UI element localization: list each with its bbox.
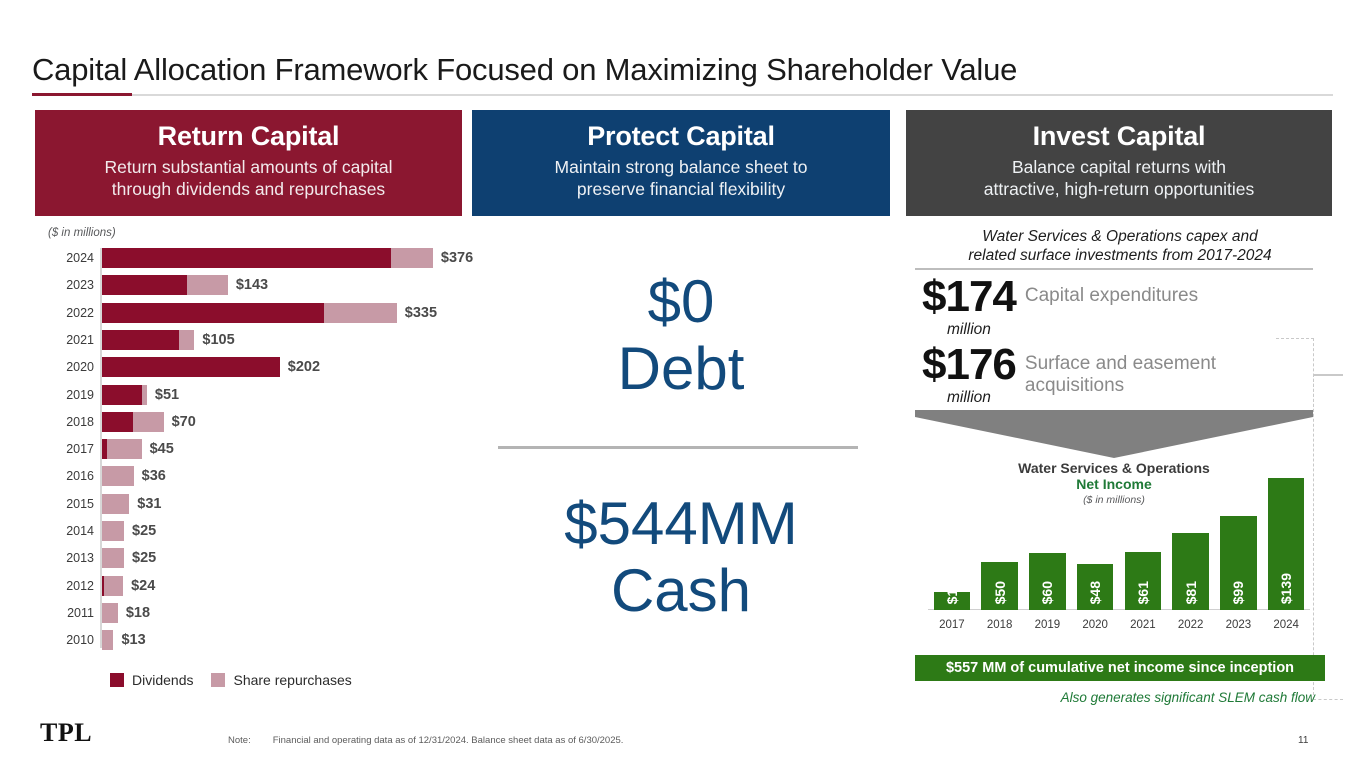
- return-capital-bar-chart: 2024$3762023$1432022$3352021$1052020$202…: [46, 248, 466, 654]
- footnote-label: Note:: [228, 735, 251, 746]
- footnote-note: Note: Financial and operating data as of…: [228, 735, 623, 746]
- return-capital-units-note: ($ in millions): [48, 227, 116, 239]
- bar-segment-share-repurchases: [102, 548, 124, 568]
- stat-surface-label-line2: acquisitions: [1025, 375, 1124, 396]
- bar-segment-dividends: [102, 385, 142, 405]
- net-income-bar: $81: [1172, 533, 1208, 610]
- bar-row-track: [102, 248, 433, 268]
- bar-row-year: 2012: [46, 579, 94, 593]
- bar-segment-share-repurchases: [104, 576, 123, 596]
- net-income-bar-value: $48: [1087, 581, 1103, 604]
- bar-row-year: 2016: [46, 469, 94, 483]
- header-card-invest-capital[interactable]: Invest Capital Balance capital returns w…: [906, 110, 1332, 216]
- card-subtitle-invest-line2: attractive, high-return opportunities: [984, 179, 1254, 199]
- bar-row-track: [102, 439, 142, 459]
- stat-capex-number-block: $174 million: [922, 276, 1016, 339]
- net-income-x-label: 2018: [976, 619, 1024, 631]
- bar-row-value: $202: [288, 359, 320, 375]
- title-divider: [32, 94, 1333, 96]
- bar-row-value: $25: [132, 523, 156, 539]
- header-card-return-capital[interactable]: Return Capital Return substantial amount…: [35, 110, 462, 216]
- net-income-bar-fill: $99: [1220, 516, 1256, 610]
- net-income-bar-value: $60: [1039, 581, 1055, 604]
- net-income-bar: $61: [1125, 552, 1161, 610]
- bar-row-track: [102, 494, 129, 514]
- net-income-x-label: 2023: [1215, 619, 1263, 631]
- bar-row-value: $376: [441, 250, 473, 266]
- bar-row-value: $24: [131, 578, 155, 594]
- bar-segment-dividends: [102, 248, 391, 268]
- bar-row-value: $25: [132, 550, 156, 566]
- debt-amount: $0: [472, 268, 890, 335]
- bar-row-track: [102, 576, 123, 596]
- bar-segment-share-repurchases: [102, 466, 134, 486]
- bar-row-year: 2024: [46, 251, 94, 265]
- bar-segment-dividends: [102, 412, 133, 432]
- net-income-bar-fill: $48: [1077, 564, 1113, 610]
- bar-row-track: [102, 521, 124, 541]
- net-income-bar: $50: [981, 562, 1017, 610]
- net-income-bar-fill: $139: [1268, 478, 1304, 610]
- net-income-x-label: 2024: [1262, 619, 1310, 631]
- bar-row-year: 2014: [46, 524, 94, 538]
- bar-segment-share-repurchases: [187, 275, 227, 295]
- tpl-logo: TPL: [40, 718, 92, 748]
- bar-row-year: 2017: [46, 442, 94, 456]
- stat-surface-number: $176: [922, 344, 1016, 386]
- stat-surface-label-line1: Surface and easement: [1025, 353, 1216, 374]
- net-income-bar-fill: $50: [981, 562, 1017, 610]
- net-income-bar-fill: $60: [1029, 553, 1065, 610]
- title-accent-underline: [32, 93, 132, 96]
- legend-swatch-share-repurchases: [211, 673, 225, 687]
- bar-segment-dividends: [102, 330, 179, 350]
- footnote-text: Financial and operating data as of 12/31…: [273, 735, 624, 746]
- funnel-chevron-shape: [915, 410, 1313, 458]
- dashed-bracket-left: [1276, 338, 1314, 412]
- bar-row-track: [102, 630, 113, 650]
- bar-row: 2023$143: [46, 275, 466, 295]
- page-number: 11: [1298, 735, 1308, 746]
- protect-capital-divider: [498, 446, 858, 449]
- bar-row: 2012$24: [46, 576, 466, 596]
- bar-row: 2013$25: [46, 548, 466, 568]
- bar-segment-share-repurchases: [179, 330, 194, 350]
- header-card-protect-capital[interactable]: Protect Capital Maintain strong balance …: [472, 110, 890, 216]
- bar-row: 2015$31: [46, 494, 466, 514]
- bar-segment-share-repurchases: [133, 412, 164, 432]
- slide-root: Capital Allocation Framework Focused on …: [0, 0, 1365, 768]
- net-income-bar-fill: $81: [1172, 533, 1208, 610]
- net-income-bar-chart: $192017$502018$602019$482020$612021$8120…: [928, 470, 1310, 632]
- bar-segment-share-repurchases: [142, 385, 146, 405]
- net-income-x-label: 2021: [1119, 619, 1167, 631]
- bar-row-year: 2013: [46, 551, 94, 565]
- net-income-x-label: 2019: [1024, 619, 1072, 631]
- bar-segment-share-repurchases: [102, 603, 118, 623]
- net-income-bar-value: $61: [1135, 581, 1151, 604]
- bar-segment-dividends: [102, 303, 324, 323]
- bar-row-year: 2011: [46, 606, 94, 620]
- card-subtitle-invest: Balance capital returns with attractive,…: [906, 156, 1332, 201]
- stat-capex-unit: million: [922, 321, 1016, 339]
- stat-capex-label: Capital expenditures: [1016, 276, 1198, 307]
- protect-capital-cash-block: $544MM Cash: [472, 490, 890, 624]
- bar-row-year: 2015: [46, 497, 94, 511]
- bar-row-value: $18: [126, 605, 150, 621]
- bar-row-value: $70: [172, 414, 196, 430]
- card-subtitle-return-line2: through dividends and repurchases: [112, 179, 385, 199]
- bar-row: 2024$376: [46, 248, 466, 268]
- legend-item-share-repurchases: Share repurchases: [211, 672, 351, 688]
- net-income-bar-value: $139: [1278, 573, 1294, 604]
- stat-capital-expenditures: $174 million Capital expenditures: [922, 276, 1198, 339]
- net-income-x-label: 2022: [1167, 619, 1215, 631]
- page-title: Capital Allocation Framework Focused on …: [32, 52, 1332, 88]
- bar-row-track: [102, 330, 194, 350]
- bar-row-value: $36: [142, 468, 166, 484]
- bar-row-year: 2010: [46, 633, 94, 647]
- stat-capex-number: $174: [922, 276, 1016, 318]
- net-income-bar: $48: [1077, 564, 1113, 610]
- bar-row-track: [102, 466, 134, 486]
- bar-row: 2017$45: [46, 439, 466, 459]
- bar-row-year: 2023: [46, 278, 94, 292]
- bar-segment-dividends: [102, 357, 280, 377]
- card-subtitle-return-line1: Return substantial amounts of capital: [105, 157, 393, 177]
- card-heading-return: Return Capital: [35, 122, 462, 152]
- card-subtitle-protect-line1: Maintain strong balance sheet to: [555, 157, 808, 177]
- bar-row: 2014$25: [46, 521, 466, 541]
- bar-row: 2011$18: [46, 603, 466, 623]
- card-subtitle-protect-line2: preserve financial flexibility: [577, 179, 785, 199]
- card-heading-protect: Protect Capital: [472, 122, 890, 152]
- protect-capital-debt-block: $0 Debt: [472, 268, 890, 402]
- bar-row: 2018$70: [46, 412, 466, 432]
- card-heading-invest: Invest Capital: [906, 122, 1332, 152]
- net-income-bar: $139: [1268, 478, 1304, 610]
- bar-row-year: 2019: [46, 388, 94, 402]
- net-income-bar: $60: [1029, 553, 1065, 610]
- bar-row-value: $335: [405, 305, 437, 321]
- bar-row-track: [102, 303, 397, 323]
- bar-row-track: [102, 357, 280, 377]
- bar-row-value: $31: [137, 496, 161, 512]
- card-subtitle-return: Return substantial amounts of capital th…: [35, 156, 462, 201]
- debt-label: Debt: [472, 335, 890, 402]
- stat-surface-label: Surface and easement acquisitions: [1016, 344, 1216, 398]
- bar-row: 2020$202: [46, 357, 466, 377]
- bar-segment-share-repurchases: [391, 248, 433, 268]
- stat-surface-number-block: $176 million: [922, 344, 1016, 407]
- net-income-bar: $19: [934, 592, 970, 610]
- bar-segment-share-repurchases: [102, 494, 129, 514]
- bar-row: 2022$335: [46, 303, 466, 323]
- bar-segment-share-repurchases: [102, 630, 113, 650]
- legend-label-dividends: Dividends: [132, 672, 193, 688]
- bar-segment-share-repurchases: [107, 439, 141, 459]
- net-income-bar-fill: $19: [934, 592, 970, 610]
- net-income-bar-value: $99: [1230, 581, 1246, 604]
- slem-cash-flow-footnote: Also generates significant SLEM cash flo…: [915, 690, 1315, 705]
- bar-row-value: $105: [202, 332, 234, 348]
- bar-row: 2016$36: [46, 466, 466, 486]
- bar-row-track: [102, 412, 164, 432]
- stat-surface-unit: million: [922, 389, 1016, 407]
- invest-capital-caption: Water Services & Operations capex and re…: [915, 228, 1325, 266]
- dashed-connector-top: [1313, 374, 1343, 376]
- bar-segment-dividends: [102, 275, 187, 295]
- bar-row: 2010$13: [46, 630, 466, 650]
- bar-row-value: $13: [121, 632, 145, 648]
- invest-caption-line2: related surface investments from 2017-20…: [968, 247, 1271, 264]
- bar-row-track: [102, 385, 147, 405]
- card-subtitle-protect: Maintain strong balance sheet to preserv…: [472, 156, 890, 201]
- dashed-connector-right: [1313, 374, 1343, 700]
- bar-row-year: 2018: [46, 415, 94, 429]
- net-income-bar-fill: $61: [1125, 552, 1161, 610]
- stat-surface-easement-acquisitions: $176 million Surface and easement acquis…: [922, 344, 1216, 407]
- card-subtitle-invest-line1: Balance capital returns with: [1012, 157, 1226, 177]
- bar-row-track: [102, 548, 124, 568]
- invest-caption-divider: [915, 268, 1313, 270]
- bar-row-value: $45: [150, 441, 174, 457]
- legend-item-dividends: Dividends: [110, 672, 193, 688]
- invest-caption-line1: Water Services & Operations capex and: [982, 228, 1257, 245]
- legend-label-share-repurchases: Share repurchases: [233, 672, 351, 688]
- bar-row-value: $143: [236, 277, 268, 293]
- cash-amount: $544MM: [472, 490, 890, 557]
- bar-segment-share-repurchases: [102, 521, 124, 541]
- net-income-bar-value: $19: [944, 581, 960, 604]
- bar-row-track: [102, 603, 118, 623]
- bar-row: 2019$51: [46, 385, 466, 405]
- bar-row-year: 2020: [46, 360, 94, 374]
- net-income-bar: $99: [1220, 516, 1256, 610]
- net-income-bar-value: $81: [1183, 581, 1199, 604]
- cash-label: Cash: [472, 557, 890, 624]
- bar-row: 2021$105: [46, 330, 466, 350]
- bar-row-year: 2021: [46, 333, 94, 347]
- net-income-bar-value: $50: [992, 581, 1008, 604]
- legend-swatch-dividends: [110, 673, 124, 687]
- bar-row-value: $51: [155, 387, 179, 403]
- cumulative-net-income-banner: $557 MM of cumulative net income since i…: [915, 655, 1325, 681]
- bar-row-year: 2022: [46, 306, 94, 320]
- bar-segment-share-repurchases: [324, 303, 397, 323]
- bar-row-track: [102, 275, 228, 295]
- net-income-x-label: 2017: [928, 619, 976, 631]
- net-income-x-label: 2020: [1071, 619, 1119, 631]
- return-capital-legend: Dividends Share repurchases: [110, 672, 352, 688]
